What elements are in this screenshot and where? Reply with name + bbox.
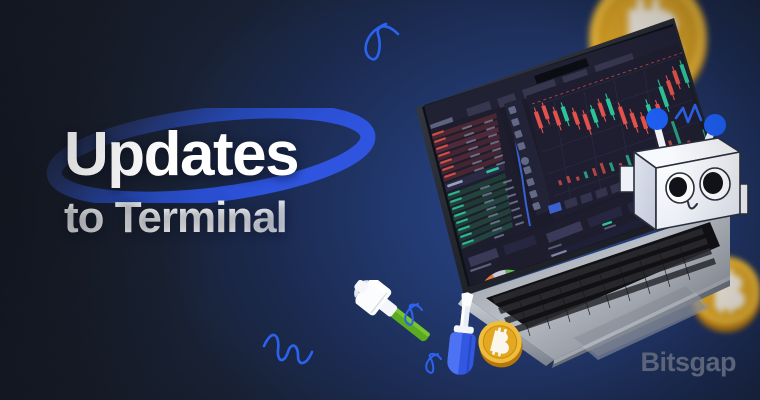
bitsgap-logo: Bitsgap — [640, 347, 736, 378]
background-vignette — [0, 0, 760, 400]
promo-banner: Updates to Terminal — [0, 0, 760, 400]
